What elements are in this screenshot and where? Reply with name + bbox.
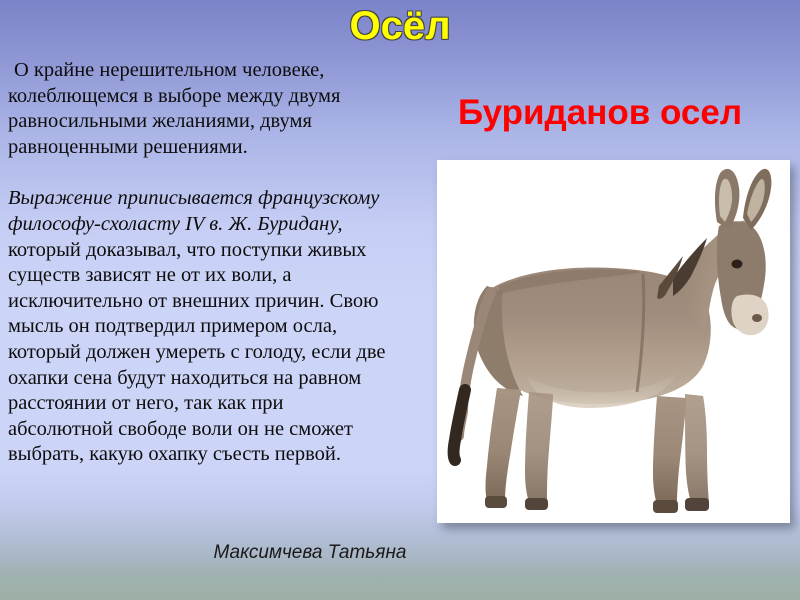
origin-paragraph: Выражение приписывается французскому фил… xyxy=(8,186,393,468)
origin-explanation: который доказывал, что поступки живых су… xyxy=(8,239,386,466)
definition-paragraph: О крайне нерешительном человеке, колеблю… xyxy=(8,58,393,160)
donkey-photo xyxy=(437,160,790,523)
author-name: Максимчева Татьяна xyxy=(120,541,500,565)
origin-attribution-italic: Выражение приписывается французскому фил… xyxy=(8,187,379,235)
slide-title: Осёл xyxy=(0,4,800,48)
idiom-heading: Буриданов осел xyxy=(400,92,800,134)
paragraph-spacer xyxy=(8,160,393,186)
presentation-slide: Осёл Буриданов осел О крайне нерешительн… xyxy=(0,0,800,600)
body-text-block: О крайне нерешительном человеке, колеблю… xyxy=(8,58,393,468)
donkey-picture-frame xyxy=(437,160,790,523)
